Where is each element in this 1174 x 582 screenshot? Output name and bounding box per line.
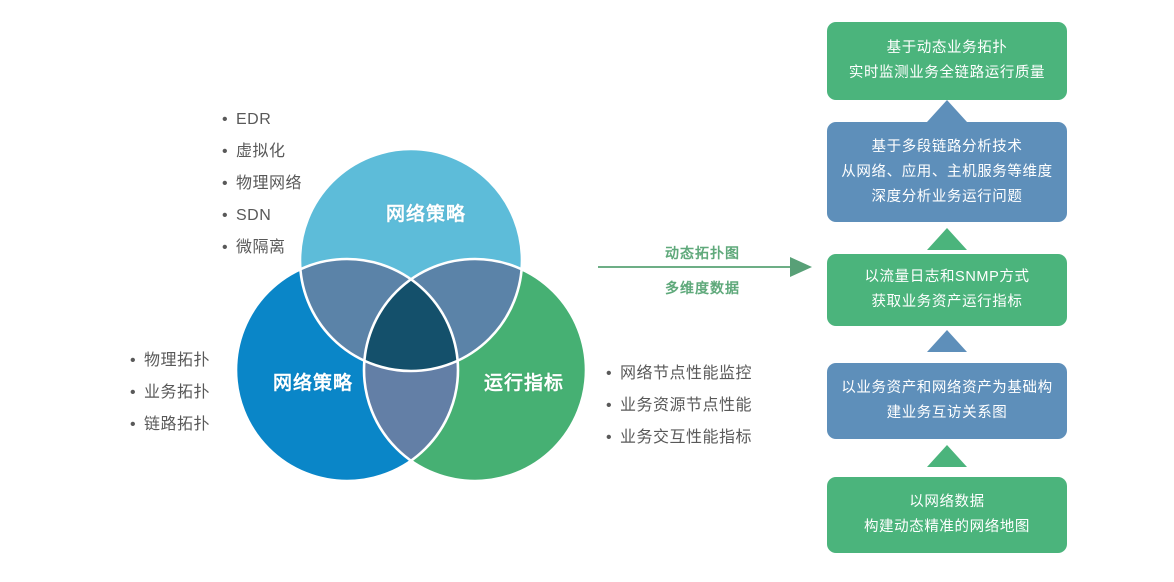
- process-stack: 基于动态业务拓扑 实时监测业务全链路运行质量 基于多段链路分析技术 从网络、应用…: [827, 0, 1067, 582]
- process-step-box-5[interactable]: 基于动态业务拓扑 实时监测业务全链路运行质量: [827, 22, 1067, 100]
- bullet-dot-icon: •: [130, 409, 144, 441]
- process-arrow-up-1: [927, 445, 967, 467]
- process-step-box-1[interactable]: 以网络数据 构建动态精准的网络地图: [827, 477, 1067, 553]
- process-step-line: 以业务资产和网络资产为基础构: [841, 376, 1052, 401]
- flow-arrow-caption-top: 动态拓扑图: [665, 243, 740, 263]
- list-item-label: 业务交互性能指标: [620, 429, 752, 446]
- bullet-dot-icon: •: [222, 104, 236, 136]
- bullet-dot-icon: •: [130, 345, 144, 377]
- list-item: •业务交互性能指标: [606, 422, 752, 454]
- process-step-box-2[interactable]: 以业务资产和网络资产为基础构 建业务互访关系图: [827, 363, 1067, 439]
- list-item: •网络节点性能监控: [606, 358, 752, 390]
- process-step-line: 基于动态业务拓扑: [887, 36, 1008, 61]
- list-item-label: 网络节点性能监控: [620, 365, 752, 382]
- process-step-line: 深度分析业务运行问题: [872, 185, 1023, 210]
- process-step-line: 实时监测业务全链路运行质量: [849, 61, 1045, 86]
- venn-diagram: [236, 140, 586, 480]
- flow-arrow-caption-bottom: 多维度数据: [665, 278, 740, 298]
- bullet-list-topology-sources: •物理拓扑 •业务拓扑 •链路拓扑: [130, 345, 210, 441]
- list-item: •链路拓扑: [130, 409, 210, 441]
- venn-svg: [236, 140, 586, 480]
- triangle-up-icon: [927, 445, 967, 467]
- process-arrow-up-4: [927, 100, 967, 122]
- triangle-up-icon: [927, 228, 967, 250]
- bullet-dot-icon: •: [222, 232, 236, 264]
- process-step-line: 以流量日志和SNMP方式: [864, 265, 1029, 290]
- list-item-label: 物理拓扑: [144, 352, 210, 369]
- process-step-line: 构建动态精准的网络地图: [864, 515, 1030, 540]
- bullet-dot-icon: •: [130, 377, 144, 409]
- list-item: •业务拓扑: [130, 377, 210, 409]
- process-step-box-4[interactable]: 基于多段链路分析技术 从网络、应用、主机服务等维度 深度分析业务运行问题: [827, 122, 1067, 222]
- process-step-line: 从网络、应用、主机服务等维度: [841, 160, 1052, 185]
- venn-label-left: 网络策略: [273, 368, 353, 395]
- list-item-label: 业务拓扑: [144, 384, 210, 401]
- list-item: •EDR: [222, 104, 302, 136]
- bullet-dot-icon: •: [606, 422, 620, 454]
- list-item-label: EDR: [236, 111, 271, 128]
- process-arrow-up-3: [927, 228, 967, 250]
- venn-label-right: 运行指标: [484, 368, 564, 395]
- process-step-box-3[interactable]: 以流量日志和SNMP方式 获取业务资产运行指标: [827, 254, 1067, 326]
- process-arrow-up-2: [927, 330, 967, 352]
- process-step-line: 基于多段链路分析技术: [872, 135, 1023, 160]
- bullet-dot-icon: •: [222, 168, 236, 200]
- process-step-line: 建业务互访关系图: [887, 401, 1008, 426]
- triangle-up-icon: [927, 330, 967, 352]
- bullet-dot-icon: •: [606, 390, 620, 422]
- list-item-label: 业务资源节点性能: [620, 397, 752, 414]
- flow-arrow-head-icon: [790, 257, 812, 277]
- bullet-dot-icon: •: [222, 200, 236, 232]
- list-item: •物理拓扑: [130, 345, 210, 377]
- venn-label-top: 网络策略: [386, 199, 466, 226]
- process-step-line: 以网络数据: [909, 490, 985, 515]
- triangle-up-icon: [927, 100, 967, 122]
- bullet-dot-icon: •: [222, 136, 236, 168]
- list-item-label: 链路拓扑: [144, 416, 210, 433]
- process-step-line: 获取业务资产运行指标: [872, 290, 1023, 315]
- bullet-dot-icon: •: [606, 358, 620, 390]
- bullet-list-runtime-metric-sources: •网络节点性能监控 •业务资源节点性能 •业务交互性能指标: [606, 358, 752, 454]
- list-item: •业务资源节点性能: [606, 390, 752, 422]
